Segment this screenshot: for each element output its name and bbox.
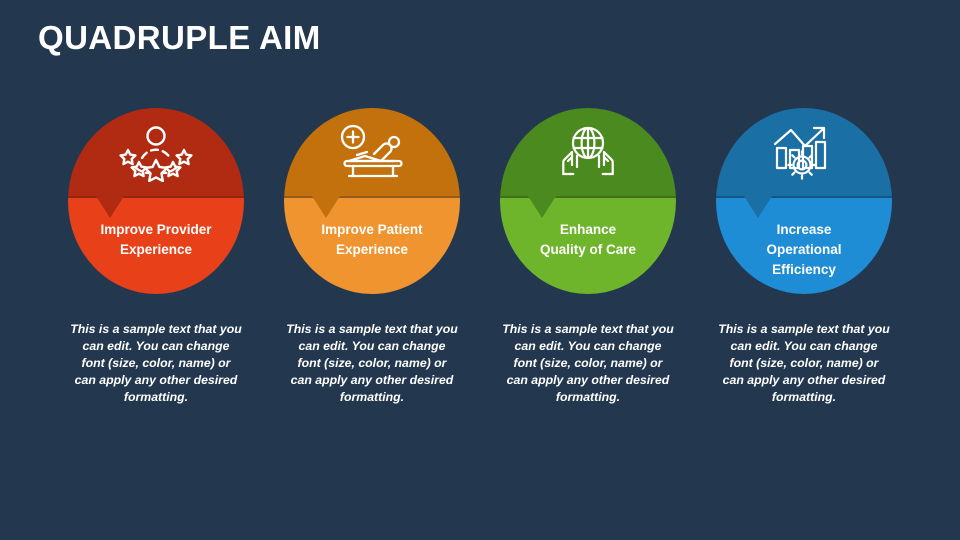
globe-in-hands-icon [500, 120, 676, 186]
badge-increase-operational-efficiency[interactable]: Increase Operational Efficiency [716, 108, 892, 294]
badge-label: Enhance Quality of Care [500, 220, 676, 260]
column-caption: This is a sample text that you can edit.… [70, 321, 242, 406]
badge-label: Increase Operational Efficiency [716, 220, 892, 280]
patient-hospital-bed-icon [284, 120, 460, 186]
column-caption: This is a sample text that you can edit.… [502, 321, 674, 406]
column-improve-patient-experience[interactable]: Improve Patient Experience This is a sam… [284, 108, 460, 406]
slide-canvas: QUADRUPLE AIM [0, 0, 960, 540]
badge-seam [716, 196, 892, 198]
badge-seam [500, 196, 676, 198]
column-improve-provider-experience[interactable]: Improve Provider Experience This is a sa… [68, 108, 244, 406]
badge-label: Improve Patient Experience [284, 220, 460, 260]
column-increase-operational-efficiency[interactable]: Increase Operational Efficiency This is … [716, 108, 892, 406]
badge-improve-patient-experience[interactable]: Improve Patient Experience [284, 108, 460, 294]
badge-seam [68, 196, 244, 198]
badge-improve-provider-experience[interactable]: Improve Provider Experience [68, 108, 244, 294]
badge-enhance-quality-of-care[interactable]: Enhance Quality of Care [500, 108, 676, 294]
growth-chart-gear-icon [716, 120, 892, 186]
page-title: QUADRUPLE AIM [38, 17, 321, 59]
column-enhance-quality-of-care[interactable]: Enhance Quality of Care This is a sample… [500, 108, 676, 406]
people-stars-icon [68, 120, 244, 186]
quadruple-aim-columns: Improve Provider Experience This is a sa… [0, 108, 960, 428]
badge-label: Improve Provider Experience [68, 220, 244, 260]
column-caption: This is a sample text that you can edit.… [718, 321, 890, 406]
column-caption: This is a sample text that you can edit.… [286, 321, 458, 406]
badge-seam [284, 196, 460, 198]
